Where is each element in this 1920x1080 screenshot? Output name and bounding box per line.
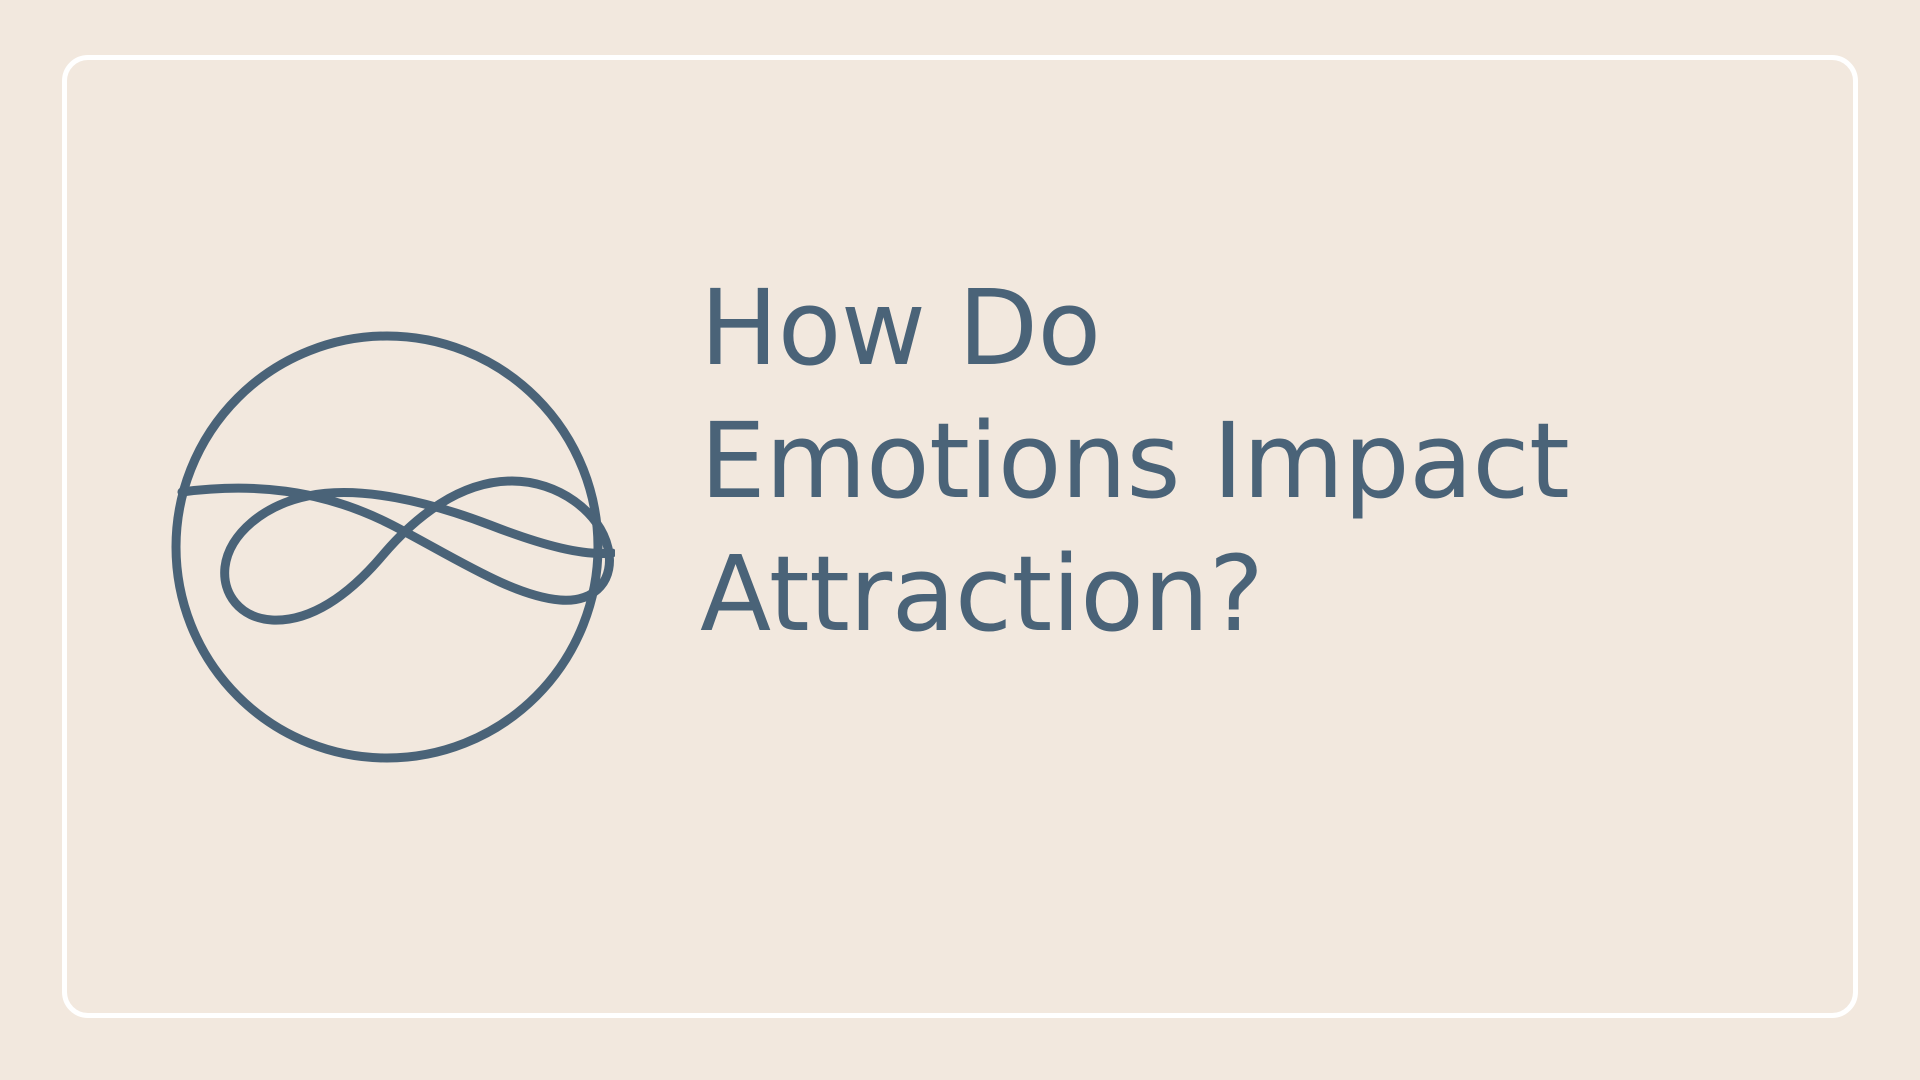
infinity-circle-icon — [160, 320, 615, 775]
page-title: How Do Emotions Impact Attraction? — [700, 262, 1810, 661]
logo-infinity-path — [182, 481, 612, 620]
logo-container — [160, 320, 615, 775]
title-line-2: Emotions Impact — [700, 395, 1810, 528]
title-line-1: How Do — [700, 262, 1810, 395]
slide-canvas: How Do Emotions Impact Attraction? — [0, 0, 1920, 1080]
title-line-3: Attraction? — [700, 528, 1810, 661]
slide-content: How Do Emotions Impact Attraction? — [0, 0, 1920, 1080]
